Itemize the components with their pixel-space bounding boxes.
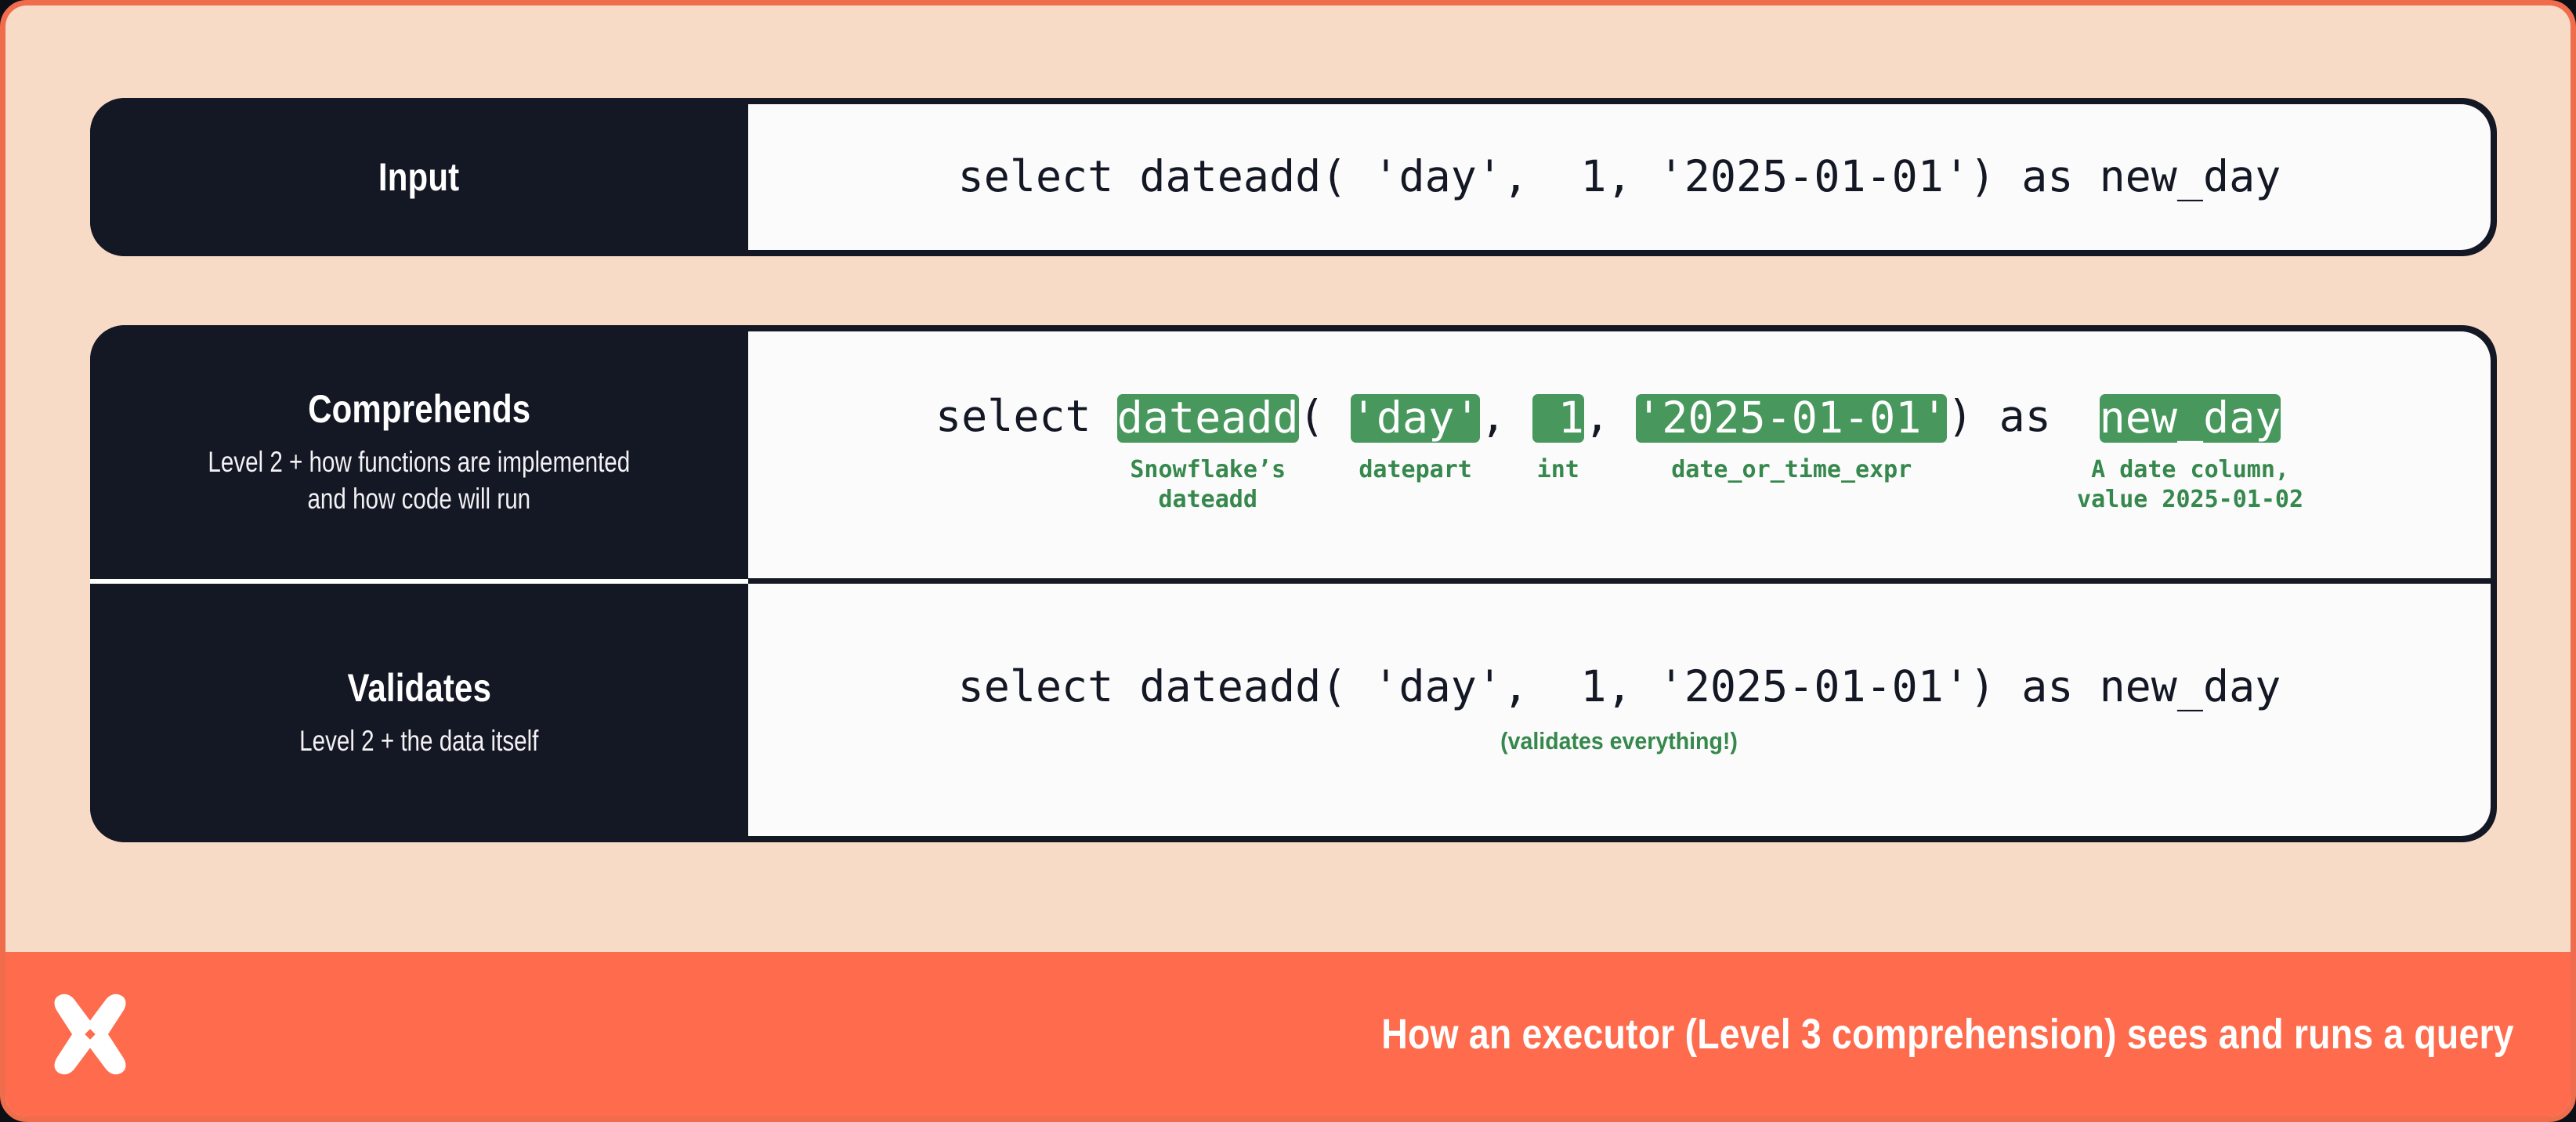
code-token: ( [1299, 394, 1351, 482]
input-block: Input select dateadd( 'day', 1, '2025-01… [90, 98, 2497, 256]
code-token-plain: , [1584, 394, 1636, 440]
code-token: , [1584, 394, 1636, 482]
comprehends-label-cell: Comprehends Level 2 + how functions are … [90, 325, 748, 584]
input-code-line: select dateadd( 'day', 1, '2025-01-01') … [958, 154, 2281, 200]
code-token: '2025-01-01'date_or_time_expr [1636, 394, 1947, 485]
code-token-annotation: Snowflake’s dateadd [1130, 455, 1286, 516]
code-token-annotation: datepart [1359, 455, 1472, 485]
validates-sublabel: Level 2 + the data itself [299, 722, 538, 759]
code-token-plain: select [935, 394, 1117, 440]
code-token-plain: ( [1299, 394, 1351, 440]
comprehends-sublabel-line1: Level 2 + how functions are implemented [208, 446, 631, 478]
input-label: Input [378, 155, 459, 199]
code-token-annotation: A date column, value 2025-01-02 [2077, 455, 2303, 516]
validates-code-line: select dateadd( 'day', 1, '2025-01-01') … [958, 664, 2281, 710]
code-token-annotation: int [1537, 455, 1579, 485]
comprehends-code-cell: select dateaddSnowflake’s dateadd( 'day'… [748, 331, 2491, 584]
validates-code-cell: select dateadd( 'day', 1, '2025-01-01') … [748, 584, 2491, 836]
comprehends-row: Comprehends Level 2 + how functions are … [90, 325, 2497, 584]
code-token-plain: , [1480, 394, 1532, 440]
code-token-highlight: '2025-01-01' [1636, 394, 1947, 443]
code-token: 'day'datepart [1351, 394, 1481, 485]
comprehends-code-line: select dateaddSnowflake’s dateadd( 'day'… [935, 394, 2303, 516]
validates-label: Validates [347, 666, 491, 710]
input-label-cell: Input [90, 98, 748, 256]
validates-note: (validates everything!) [1501, 727, 1738, 755]
x-butterfly-logo-icon [46, 990, 134, 1078]
code-token: dateaddSnowflake’s dateadd [1117, 394, 1299, 516]
code-token-highlight: dateadd [1117, 394, 1299, 443]
code-token-highlight: 1 [1532, 394, 1584, 443]
validates-label-cell: Validates Level 2 + the data itself [90, 584, 748, 842]
code-token-highlight: new_day [2100, 394, 2281, 443]
comprehends-label: Comprehends [308, 387, 530, 431]
code-token: ) as [1947, 394, 2077, 482]
code-token-annotation: date_or_time_expr [1671, 455, 1912, 485]
code-token-highlight: 'day' [1351, 394, 1481, 443]
comprehends-sublabel-line2: and how code will run [308, 483, 531, 515]
code-token: select [935, 394, 1117, 482]
code-token-plain: ) as [1947, 394, 2077, 440]
input-code-cell: select dateadd( 'day', 1, '2025-01-01') … [748, 104, 2491, 250]
comprehends-sublabel: Level 2 + how functions are implemented … [208, 443, 631, 518]
footer-caption: How an executor (Level 3 comprehension) … [1382, 1010, 2514, 1059]
code-token: 1int [1532, 394, 1584, 485]
levels-block: Comprehends Level 2 + how functions are … [90, 325, 2497, 842]
validates-row: Validates Level 2 + the data itself sele… [90, 584, 2497, 842]
code-token: new_dayA date column, value 2025-01-02 [2077, 394, 2303, 516]
footer-bar: How an executor (Level 3 comprehension) … [5, 952, 2571, 1117]
code-token: , [1480, 394, 1532, 482]
diagram-stage: Input select dateadd( 'day', 1, '2025-01… [90, 98, 2497, 881]
levels-rows: Comprehends Level 2 + how functions are … [90, 325, 2497, 842]
poster-frame: Input select dateadd( 'day', 1, '2025-01… [0, 0, 2576, 1122]
